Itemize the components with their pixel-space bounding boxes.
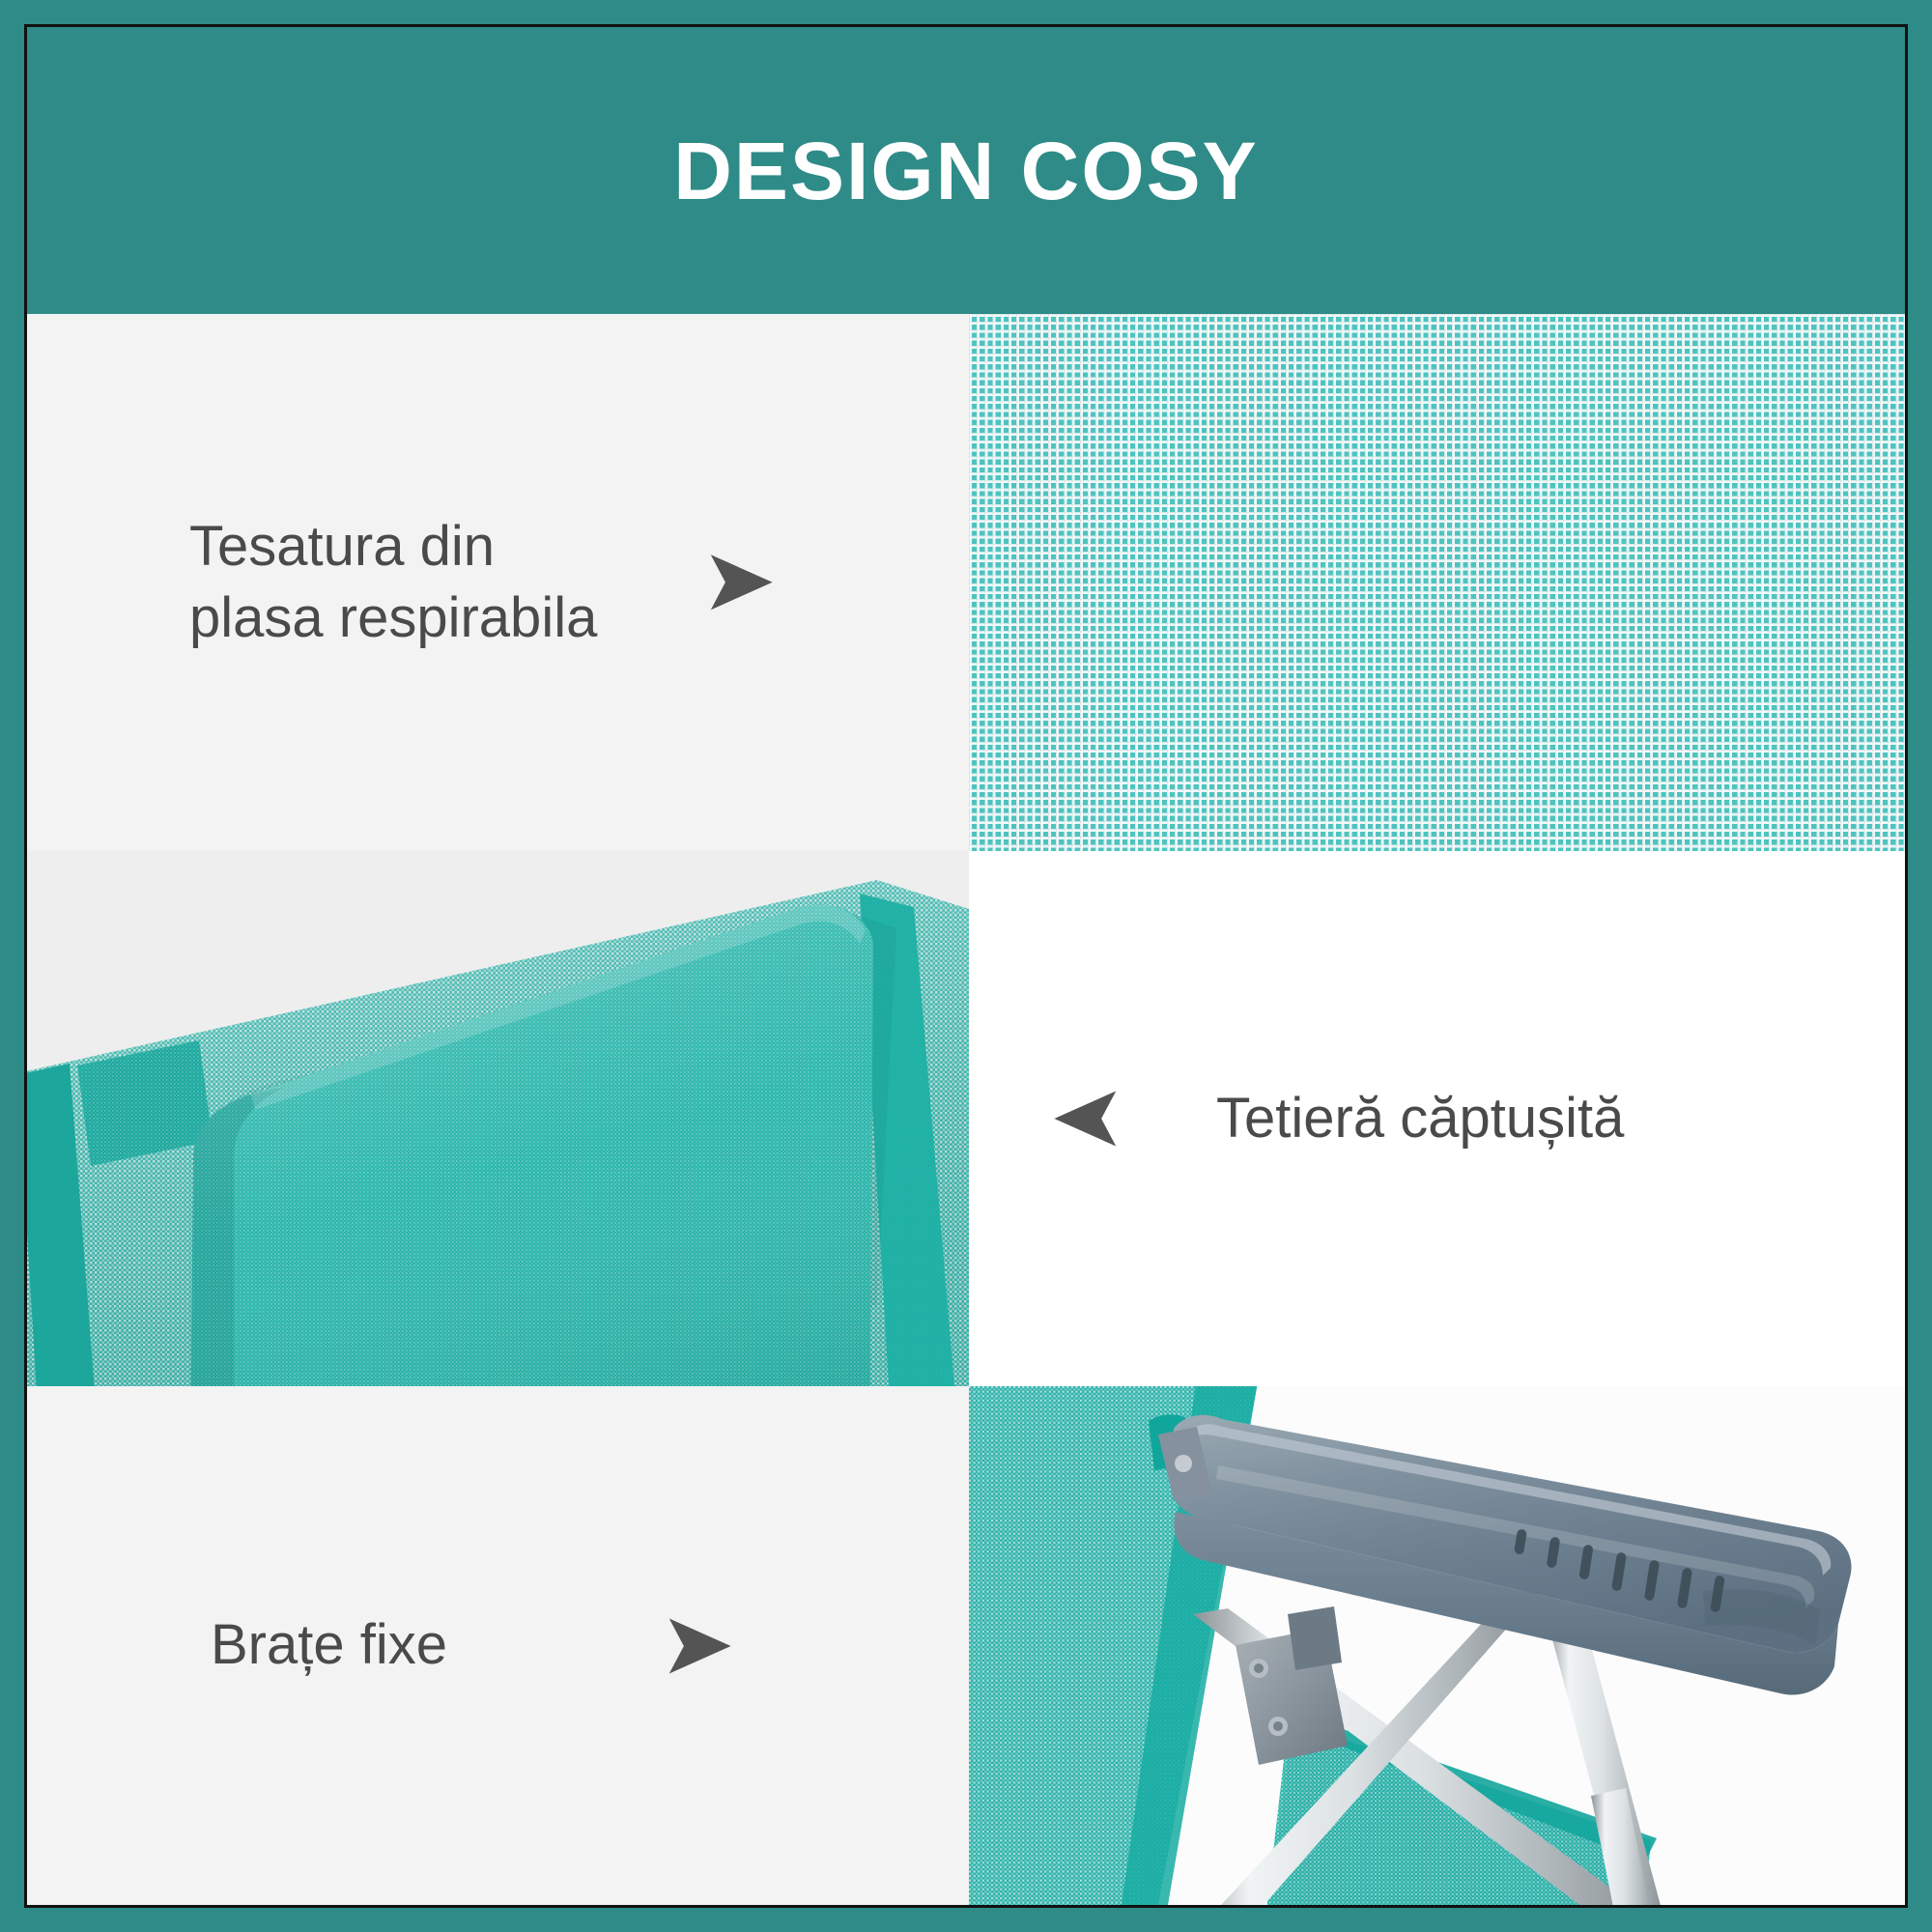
armrest-photo — [969, 1386, 1905, 1905]
panel-fabric-swatch — [969, 314, 1905, 851]
caption-headrest-label: Tetieră căptușită — [1216, 1083, 1624, 1154]
caption-armrest-label: Brațe fixe — [211, 1609, 447, 1681]
caption-armrest: Brațe fixe — [211, 1605, 945, 1687]
panel-headrest-caption: Tetieră căptușită — [969, 851, 1905, 1386]
caption-headrest: Tetieră căptușită — [1046, 1078, 1858, 1159]
headrest-photo — [27, 851, 969, 1386]
panel-armrest-photo — [969, 1386, 1905, 1905]
panel-armrest-caption: Brațe fixe — [27, 1386, 969, 1905]
infographic-frame: DESIGN COSY Tesatura din plasa respirabi… — [24, 24, 1908, 1908]
page-title: DESIGN COSY — [673, 130, 1258, 212]
caption-fabric: Tesatura din plasa respirabila — [189, 511, 923, 654]
mesh-fabric-texture — [969, 314, 1905, 851]
panel-headrest-photo — [27, 851, 969, 1386]
header-banner: DESIGN COSY — [27, 27, 1905, 314]
panel-fabric-caption: Tesatura din plasa respirabila — [27, 314, 969, 851]
arrow-left-icon — [1046, 1078, 1127, 1159]
feature-grid: Tesatura din plasa respirabila — [27, 314, 1905, 1905]
arrow-right-icon — [699, 542, 781, 623]
caption-fabric-label: Tesatura din plasa respirabila — [189, 511, 597, 654]
arrow-right-icon — [658, 1605, 739, 1687]
